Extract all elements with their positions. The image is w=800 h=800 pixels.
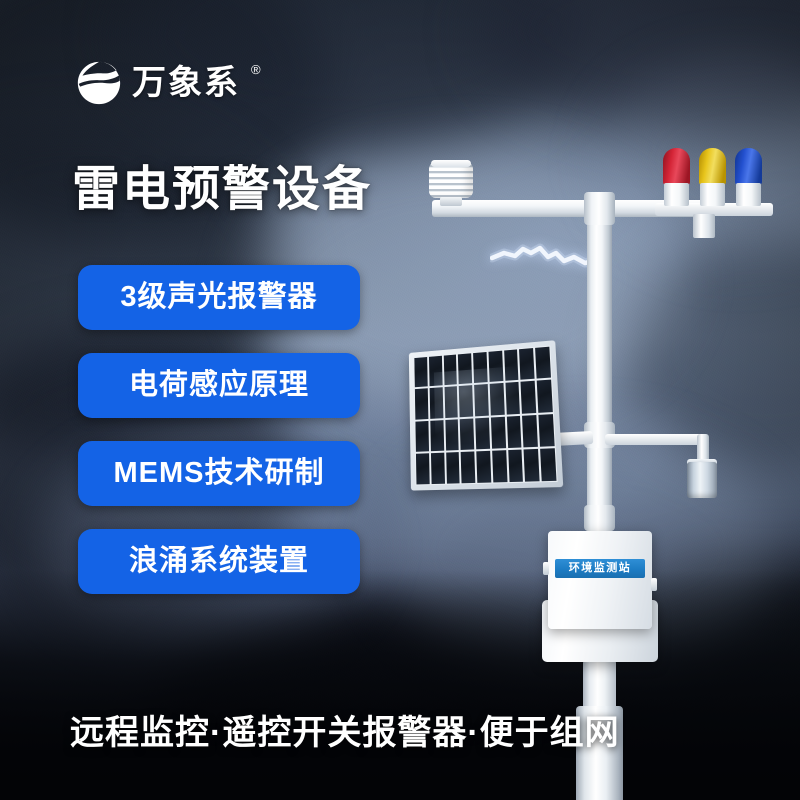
- feature-pill-alarm[interactable]: 3级声光报警器: [78, 265, 360, 330]
- feature-pill-principle[interactable]: 电荷感应原理: [78, 353, 360, 418]
- feature-pill-label: 电荷感应原理: [129, 371, 309, 400]
- sensor-arm-horizontal: [605, 434, 708, 445]
- feature-pill-label: 浪涌系统装置: [129, 547, 309, 576]
- yellow-alarm-beacon-icon: [699, 148, 726, 206]
- feature-pill-label: 3级声光报警器: [120, 283, 317, 312]
- brand-logo: 万象系 ®: [76, 60, 261, 106]
- solar-cell-grid: [413, 346, 557, 486]
- red-alarm-beacon-icon: [663, 148, 690, 206]
- feature-pill-surge[interactable]: 浪涌系统装置: [78, 529, 360, 594]
- feature-list: 3级声光报警器 电荷感应原理 MEMS技术研制 浪涌系统装置: [78, 265, 360, 594]
- crossbar-hub: [584, 192, 615, 225]
- brand-name: 万象系: [132, 66, 240, 100]
- mast-lower-section: [583, 660, 616, 710]
- three-stage-alarm-beacons: [663, 148, 763, 206]
- enclosure-nameplate: 环境监测站: [555, 559, 645, 578]
- lightning-detector-sensor-icon: [687, 462, 717, 498]
- radiation-shield-sensor-icon: [427, 160, 475, 204]
- enclosure-hinge-tab: [543, 562, 549, 575]
- page-title: 雷电预警设备: [72, 164, 372, 216]
- feature-pill-mems[interactable]: MEMS技术研制: [78, 441, 360, 506]
- solar-panel: [409, 340, 563, 490]
- beacon-mount-stem: [693, 214, 715, 238]
- lightning-warning-device-poster: 环境监测站 万象系 ® 雷电预警设备 3级声光报警器 电荷感应原理 MEMS技术…: [0, 0, 800, 800]
- registered-mark: ®: [251, 62, 261, 77]
- enclosure-latch-tab: [651, 578, 657, 591]
- mast-collar: [584, 505, 615, 531]
- swirl-globe-logo-icon: [76, 60, 122, 106]
- enclosure-nameplate-text: 环境监测站: [569, 563, 632, 574]
- blue-alarm-beacon-icon: [735, 148, 762, 206]
- feature-pill-label: MEMS技术研制: [113, 459, 324, 488]
- control-enclosure: [548, 531, 652, 629]
- footer-tagline: 远程监控·遥控开关报警器·便于组网: [70, 716, 620, 750]
